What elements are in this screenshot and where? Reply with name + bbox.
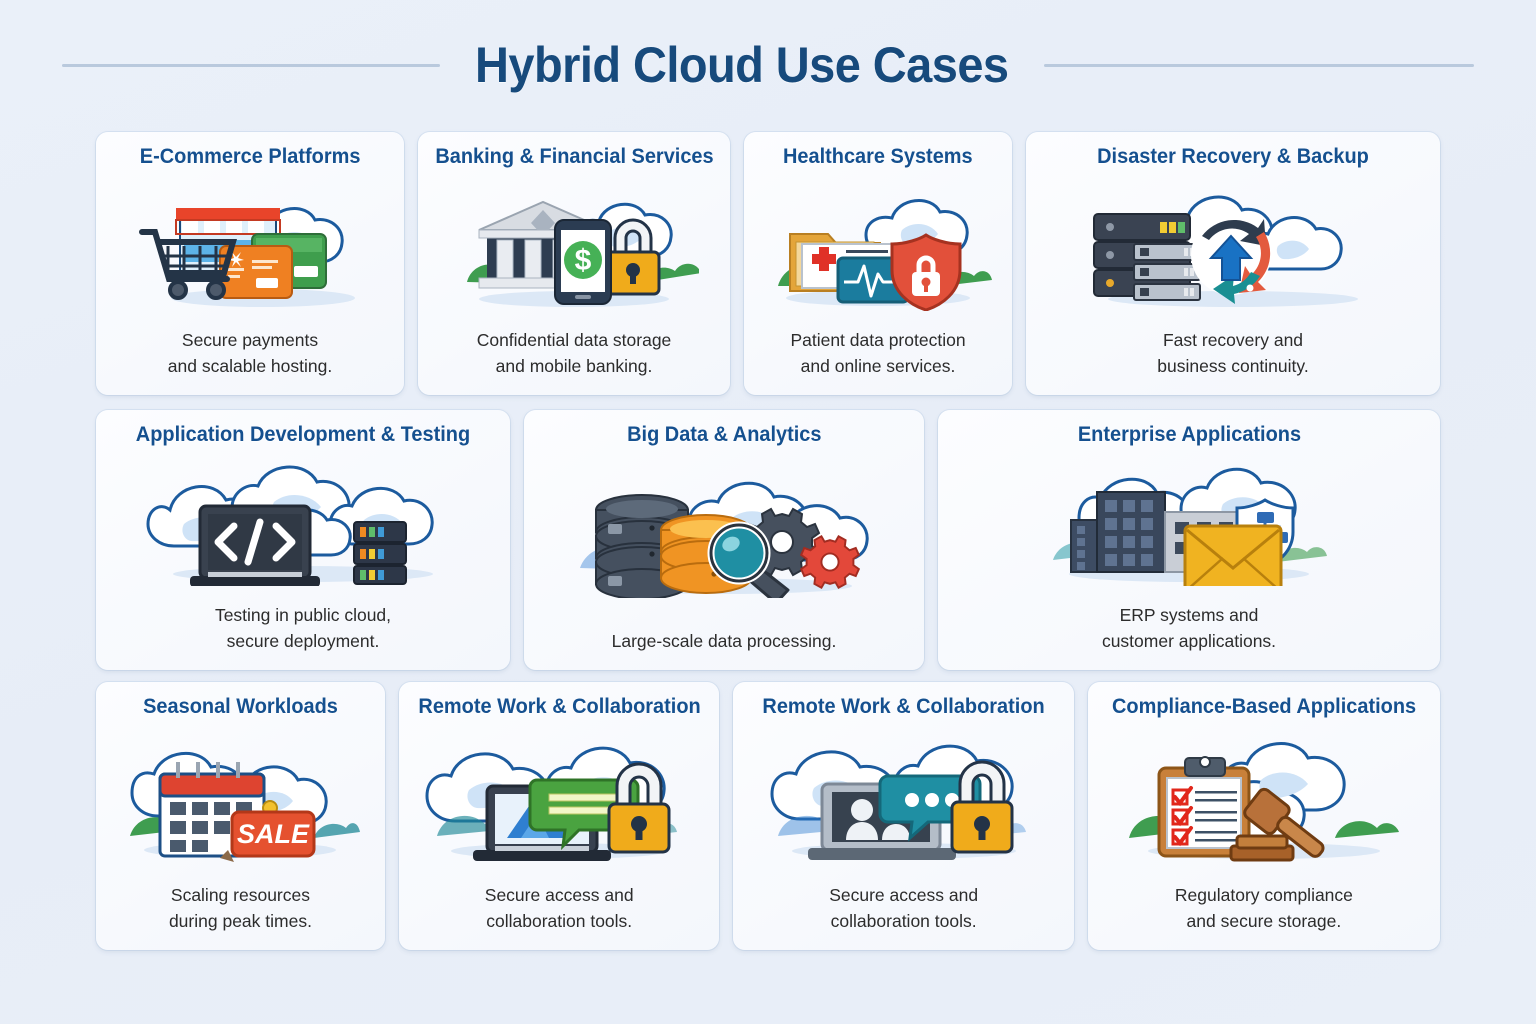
- card-illustration-disaster-recovery: [1036, 168, 1430, 328]
- card-description: Scaling resources during peak times.: [169, 883, 312, 938]
- card-remote-work-collaboration-1[interactable]: Remote Work & Collaboration: [399, 682, 720, 950]
- card-illustration-big-data: [534, 446, 914, 629]
- card-title: Application Development & Testing: [136, 424, 470, 446]
- padlock-icon: [607, 220, 659, 294]
- card-description: Patient data protection and online servi…: [790, 328, 965, 383]
- card-illustration-app-dev: [106, 446, 500, 603]
- card-title: Healthcare Systems: [783, 146, 973, 168]
- title-rule-left: [62, 64, 440, 67]
- card-healthcare-systems[interactable]: Healthcare Systems: [744, 132, 1012, 395]
- card-row-2: Application Development & Testing: [96, 410, 1440, 670]
- infographic-page: Hybrid Cloud Use Cases E-Commerce Platfo…: [0, 0, 1536, 1024]
- padlock-icon: [609, 764, 669, 852]
- remote-work-art-2: [764, 738, 1044, 863]
- card-description: Large-scale data processing.: [612, 629, 837, 658]
- card-enterprise-applications[interactable]: Enterprise Applications: [938, 410, 1440, 670]
- card-illustration-remote-work-1: [409, 718, 710, 883]
- card-disaster-recovery-backup[interactable]: Disaster Recovery & Backup: [1026, 132, 1440, 395]
- compliance-art: [1119, 738, 1409, 863]
- card-remote-work-collaboration-2[interactable]: Remote Work & Collaboration: [733, 682, 1073, 950]
- card-illustration-banking: $: [428, 168, 720, 328]
- card-illustration-remote-work-2: [743, 718, 1063, 883]
- ecommerce-art: [128, 186, 373, 311]
- envelope-icon: [1185, 526, 1281, 586]
- card-description: Regulatory compliance and secure storage…: [1175, 883, 1353, 938]
- card-description: Fast recovery and business continuity.: [1157, 328, 1308, 383]
- card-title: Remote Work & Collaboration: [418, 696, 700, 718]
- card-title: Enterprise Applications: [1077, 424, 1300, 446]
- card-title: Compliance-Based Applications: [1112, 696, 1416, 718]
- server-rack-icon: [354, 522, 406, 584]
- card-application-development-testing[interactable]: Application Development & Testing: [96, 410, 510, 670]
- card-compliance-based-applications[interactable]: Compliance-Based Applications: [1088, 682, 1440, 950]
- healthcare-art: [764, 186, 992, 311]
- card-description: Secure payments and scalable hosting.: [168, 328, 332, 383]
- card-row-3: Seasonal Workloads: [96, 682, 1440, 950]
- card-title: Banking & Financial Services: [435, 146, 713, 168]
- card-description: Secure access and collaboration tools.: [829, 883, 978, 938]
- laptop-code-icon: [190, 506, 320, 586]
- remote-work-art-1: [425, 738, 693, 863]
- padlock-icon: [952, 762, 1012, 852]
- app-dev-art: [138, 464, 468, 586]
- seasonal-art: SALE: [120, 738, 360, 863]
- big-data-art: [564, 476, 884, 598]
- smartphone-dollar-icon: $: [555, 220, 611, 304]
- page-title: Hybrid Cloud Use Cases: [475, 36, 1008, 94]
- card-row-1: E-Commerce Platforms: [96, 132, 1440, 395]
- enterprise-art: [1039, 464, 1339, 586]
- card-title: Disaster Recovery & Backup: [1097, 146, 1369, 168]
- card-illustration-seasonal: SALE: [106, 718, 375, 883]
- card-illustration-compliance: [1098, 718, 1430, 883]
- card-illustration-healthcare: [754, 168, 1002, 328]
- disaster-recovery-art: [1068, 186, 1398, 311]
- page-title-row: Hybrid Cloud Use Cases: [0, 36, 1536, 94]
- card-illustration-enterprise: [948, 446, 1430, 603]
- sync-arrows-icon: [1191, 215, 1271, 304]
- card-description: Secure access and collaboration tools.: [485, 883, 634, 938]
- card-description: Confidential data storage and mobile ban…: [477, 328, 672, 383]
- card-description: ERP systems and customer applications.: [1102, 603, 1276, 658]
- card-title: E-Commerce Platforms: [140, 146, 361, 168]
- card-title: Seasonal Workloads: [143, 696, 338, 718]
- card-seasonal-workloads[interactable]: Seasonal Workloads: [96, 682, 385, 950]
- card-description: Testing in public cloud, secure deployme…: [215, 603, 391, 658]
- card-illustration-ecommerce: [106, 168, 394, 328]
- svg-text:$: $: [575, 244, 592, 277]
- banking-art: $: [449, 186, 699, 311]
- card-title: Remote Work & Collaboration: [763, 696, 1045, 718]
- card-banking-financial-services[interactable]: Banking & Financial Services: [418, 132, 730, 395]
- card-e-commerce-platforms[interactable]: E-Commerce Platforms: [96, 132, 404, 395]
- card-big-data-analytics[interactable]: Big Data & Analytics: [524, 410, 924, 670]
- title-rule-right: [1044, 64, 1474, 67]
- card-title: Big Data & Analytics: [627, 424, 821, 446]
- server-rack-icon: [1094, 214, 1200, 300]
- sale-tag-label: SALE: [237, 819, 310, 849]
